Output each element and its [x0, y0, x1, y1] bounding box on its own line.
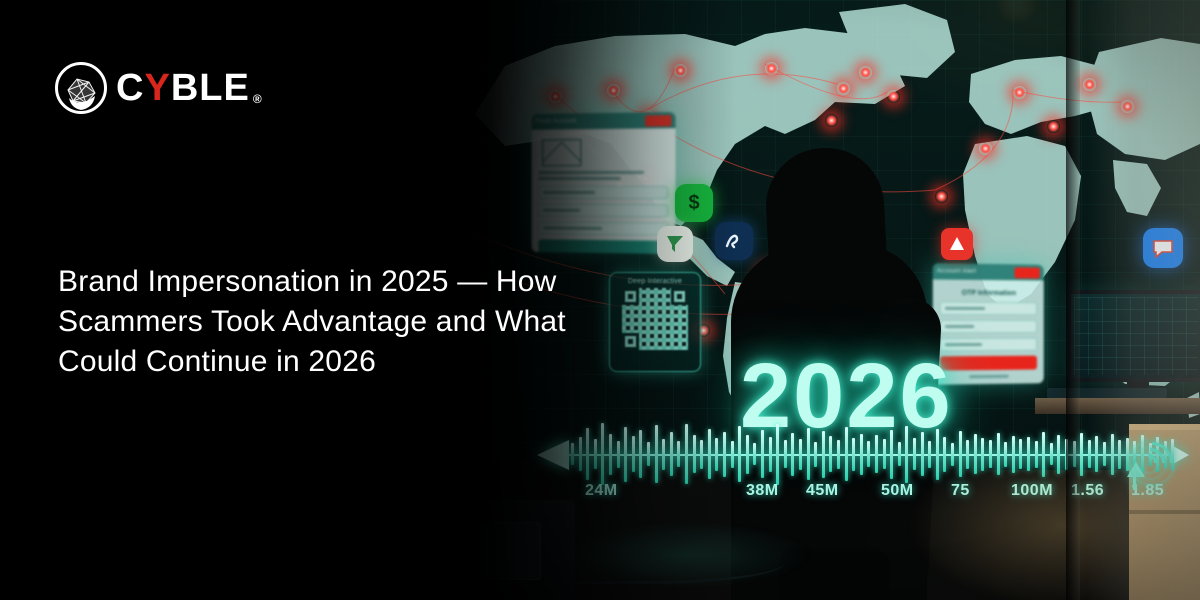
timeline-label: 45M: [806, 482, 839, 500]
waveform-bar: [1012, 436, 1015, 473]
waveform-bar: [951, 443, 954, 466]
map-marker: [825, 114, 838, 127]
map-marker: [1013, 86, 1026, 99]
waveform-bar: [776, 424, 779, 485]
waveform-bar: [1035, 441, 1038, 468]
request-button[interactable]: [940, 356, 1037, 371]
waveform-bar: [761, 430, 764, 478]
logo-ble: BLE: [171, 67, 250, 110]
map-marker: [859, 66, 872, 79]
waveform-bar: [822, 431, 825, 478]
waveform-bar: [1004, 442, 1007, 467]
globe-mesh-icon: [55, 62, 107, 114]
waveform-bar: [746, 435, 749, 474]
waveform-bar: [913, 438, 916, 470]
username-field[interactable]: [940, 302, 1037, 315]
waveform-bar: [753, 443, 756, 465]
logo-y: Y: [144, 67, 170, 110]
registered-mark: ®: [253, 92, 263, 106]
waveform-bar: [814, 442, 817, 467]
waveform-bar: [883, 439, 886, 469]
waveform-bar: [845, 427, 848, 481]
warning-icon: [941, 228, 973, 260]
map-marker: [979, 142, 992, 155]
dialog-titlebar: Account Alert: [933, 263, 1044, 280]
waveform-bar: [997, 433, 1000, 475]
waveform-bar: [799, 439, 802, 470]
waveform-bar: [867, 441, 870, 467]
message-field[interactable]: [940, 320, 1037, 333]
waveform-bar: [989, 440, 992, 468]
otp-code-field[interactable]: [940, 338, 1037, 351]
waveform-bar: [981, 438, 984, 471]
otp-heading: OTP Information: [940, 290, 1037, 298]
waveform-bar: [852, 438, 855, 471]
waveform-bar: [1057, 435, 1060, 474]
waveform-bar: [837, 440, 840, 469]
waveform-bar: [860, 434, 863, 475]
logo-wordmark: CYBLE®: [116, 67, 263, 110]
waveform-bar: [1027, 437, 1030, 471]
waveform-bar: [974, 434, 977, 474]
page-title: Brand Impersonation in 2025 — How Scamme…: [58, 262, 588, 382]
waveform-bar: [738, 426, 741, 482]
map-marker: [1047, 120, 1060, 133]
logo-c: C: [116, 67, 144, 110]
map-marker: [837, 82, 850, 95]
timeline-label: 38M: [746, 482, 779, 500]
waveform-bar: [784, 440, 787, 468]
waveform-bar: [791, 433, 794, 476]
waveform-bar: [1050, 443, 1053, 465]
map-marker: [887, 90, 900, 103]
cancel-link[interactable]: [970, 375, 1009, 378]
waveform-bar: [928, 441, 931, 468]
article-hero-banner: Phish Account Account Alert OTP Informat…: [0, 0, 1200, 600]
concrete-pillar: [1086, 0, 1200, 600]
waveform-bar: [807, 428, 810, 480]
close-icon[interactable]: [1015, 267, 1040, 278]
waveform-bar: [966, 440, 969, 469]
waveform-bar: [890, 430, 893, 479]
map-marker: [765, 62, 778, 75]
waveform-bar: [829, 436, 832, 472]
waveform-bar: [875, 435, 878, 473]
dialog-title: Account Alert: [937, 268, 976, 275]
waveform-bar: [1019, 439, 1022, 469]
cyble-logo[interactable]: CYBLE®: [55, 62, 263, 114]
waveform-bar: [943, 437, 946, 472]
waveform-bar: [769, 437, 772, 472]
waveform-bar: [898, 442, 901, 466]
wall-seam: [1066, 0, 1080, 600]
